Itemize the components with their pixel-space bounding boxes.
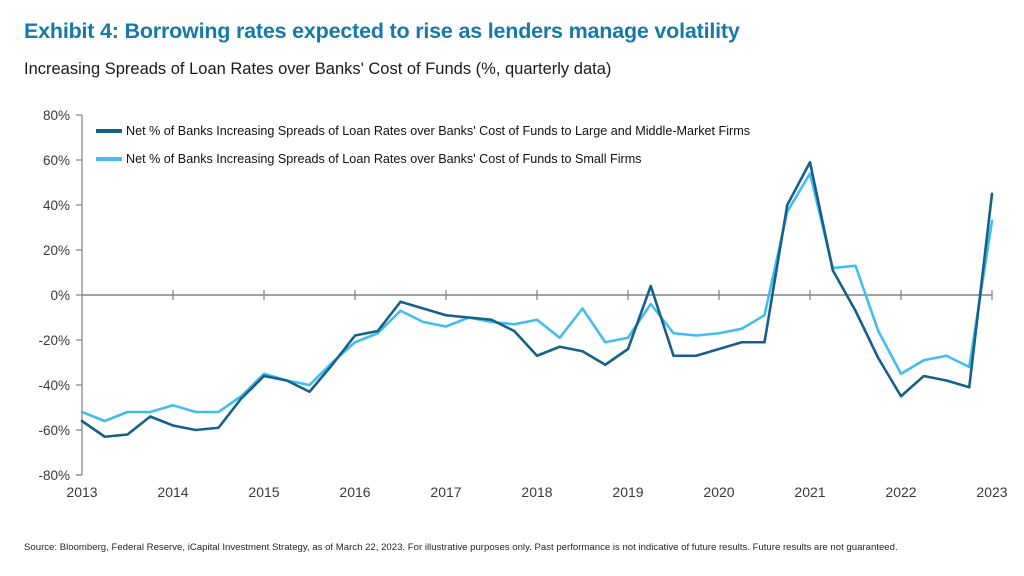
legend-label-small-firms: Net % of Banks Increasing Spreads of Loa…: [126, 153, 641, 166]
x-axis-tick-label: 2015: [248, 484, 279, 500]
x-axis-tick-label: 2014: [157, 484, 188, 500]
x-axis-tick-label: 2017: [430, 484, 461, 500]
x-axis-tick-label: 2023: [976, 484, 1007, 500]
page-title: Exhibit 4: Borrowing rates expected to r…: [24, 19, 740, 44]
y-axis-tick-label: 0%: [50, 288, 70, 303]
legend-swatch-dark-blue: [96, 129, 122, 133]
chart-legend: Net % of Banks Increasing Spreads of Loa…: [96, 120, 896, 176]
y-axis-tick-label: 20%: [43, 243, 70, 258]
legend-item-small-firms: Net % of Banks Increasing Spreads of Loa…: [96, 148, 896, 170]
x-axis-tick-label: 2016: [339, 484, 370, 500]
x-axis-tick-label: 2020: [703, 484, 734, 500]
x-axis-tick-label: 2013: [66, 484, 97, 500]
chart-page: Exhibit 4: Borrowing rates expected to r…: [0, 0, 1024, 576]
y-axis-tick-label: 40%: [43, 198, 70, 213]
x-axis-tick-label: 2022: [885, 484, 916, 500]
x-axis-tick-label: 2021: [794, 484, 825, 500]
y-axis-tick-label: 60%: [43, 153, 70, 168]
legend-item-large-middle-market: Net % of Banks Increasing Spreads of Loa…: [96, 120, 896, 142]
y-axis-tick-label: -80%: [38, 468, 70, 483]
x-axis-tick-label: 2019: [612, 484, 643, 500]
legend-swatch-light-blue: [96, 157, 122, 161]
chart-subtitle: Increasing Spreads of Loan Rates over Ba…: [24, 60, 611, 79]
y-axis-tick-label: -40%: [38, 378, 70, 393]
y-axis-tick-label: -60%: [38, 423, 70, 438]
y-axis-tick-label: -20%: [38, 333, 70, 348]
source-note: Source: Bloomberg, Federal Reserve, iCap…: [24, 542, 898, 553]
x-axis-tick-label: 2018: [521, 484, 552, 500]
legend-label-large-middle-market: Net % of Banks Increasing Spreads of Loa…: [126, 125, 750, 138]
y-axis-tick-label: 80%: [43, 108, 70, 123]
